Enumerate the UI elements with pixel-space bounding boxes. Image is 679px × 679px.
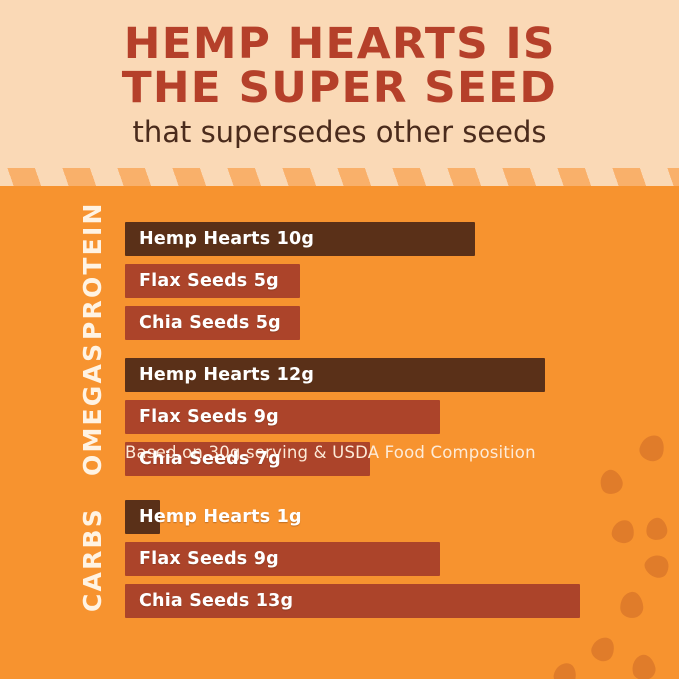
bar-chart: PROTEINHemp Hearts 10gFlax Seeds 5gChia … [0, 190, 679, 679]
divider-top-cap [0, 161, 679, 168]
bar-omegas-flax-seeds: Flax Seeds 9g [125, 400, 440, 434]
group-label-protein: PROTEIN [78, 222, 107, 340]
bar-carbs-chia-seeds: Chia Seeds 13g [125, 584, 580, 618]
bar-protein-chia-seeds: Chia Seeds 5g [125, 306, 385, 340]
bar-label: Hemp Hearts 12g [125, 365, 314, 385]
header-banner: HEMP HEARTS IS THE SUPER SEED that super… [0, 0, 679, 161]
bar-carbs-hemp-hearts: Hemp Hearts 1g [125, 500, 385, 534]
bar-label: Flax Seeds 9g [125, 407, 279, 427]
bar-label: Chia Seeds 7g [125, 449, 281, 469]
bar-label: Hemp Hearts 1g [125, 507, 302, 527]
page-title-line-1: HEMP HEARTS IS [124, 22, 556, 66]
bar-carbs-flax-seeds: Flax Seeds 9g [125, 542, 440, 576]
infographic-root: HEMP HEARTS IS THE SUPER SEED that super… [0, 0, 679, 679]
bar-label: Flax Seeds 5g [125, 271, 279, 291]
bar-label: Flax Seeds 9g [125, 549, 279, 569]
bar-omegas-hemp-hearts: Hemp Hearts 12g [125, 358, 545, 392]
bar-label: Chia Seeds 5g [125, 313, 281, 333]
striped-divider [0, 161, 679, 190]
group-label-carbs: CARBS [78, 500, 107, 618]
bar-protein-hemp-hearts: Hemp Hearts 10g [125, 222, 475, 256]
bar-group-protein: PROTEINHemp Hearts 10gFlax Seeds 5gChia … [0, 222, 679, 340]
page-title-line-2: THE SUPER SEED [122, 66, 557, 110]
bar-label: Hemp Hearts 10g [125, 229, 314, 249]
bar-label: Chia Seeds 13g [125, 591, 293, 611]
bar-protein-flax-seeds: Flax Seeds 5g [125, 264, 385, 298]
group-label-omegas: OMEGAS [78, 358, 107, 476]
bar-group-carbs: CARBSHemp Hearts 1gFlax Seeds 9gChia See… [0, 500, 679, 618]
page-subtitle: that supersedes other seeds [132, 116, 546, 149]
